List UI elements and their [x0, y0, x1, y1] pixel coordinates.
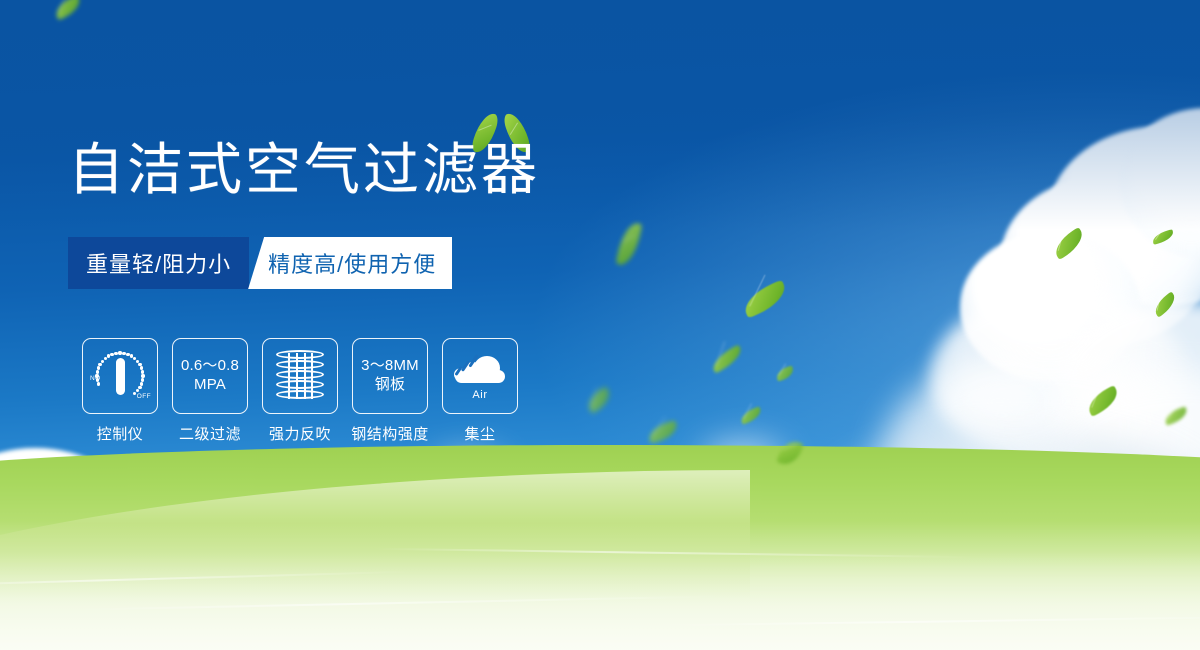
gauge-tick	[136, 389, 139, 392]
gauge-tick	[141, 378, 144, 381]
gauge-tick	[140, 366, 143, 369]
feature-item-controller[interactable]: NO OFF 控制仪	[82, 338, 158, 444]
feature-item-dust[interactable]: Air 集尘	[442, 338, 518, 444]
gauge-tick	[97, 382, 100, 385]
subtitle-right: 精度高/使用方便	[248, 237, 452, 289]
air-label: Air	[472, 389, 487, 401]
feature-icon-box	[262, 338, 338, 414]
gauge-tick	[110, 353, 113, 356]
air-cloud-icon	[452, 354, 508, 388]
product-banner: 自洁式空气过滤器 重量轻/阻力小 精度高/使用方便 NO OFF 控制仪 0.6…	[0, 0, 1200, 650]
filter-coil-icon	[276, 350, 324, 402]
feature-label: 集尘	[464, 423, 495, 444]
gauge-tick	[141, 374, 144, 377]
pressure-value: 0.6～0.8	[181, 357, 239, 376]
grass-field	[0, 445, 1200, 650]
gauge-tick	[114, 352, 117, 355]
gauge-tick	[96, 378, 99, 381]
feature-label: 强力反吹	[269, 423, 331, 444]
switch-bar-icon	[116, 358, 125, 395]
gauge-tick	[118, 351, 121, 354]
gauge-off-label: OFF	[137, 393, 151, 400]
gauge-tick	[141, 370, 144, 373]
page-title: 自洁式空气过滤器	[68, 142, 540, 198]
steel-thickness: 3～8MM	[361, 357, 419, 376]
gauge-tick	[122, 352, 125, 355]
gauge-switch-icon: NO OFF	[91, 347, 149, 405]
subtitle-bar: 重量轻/阻力小 精度高/使用方便	[68, 237, 452, 289]
gauge-tick	[97, 366, 100, 369]
feature-label: 控制仪	[97, 423, 144, 444]
gauge-tick	[98, 363, 101, 366]
feature-icon-box: 3～8MM 钢板	[352, 338, 428, 414]
grass-path	[0, 520, 1200, 650]
feature-label: 二级过滤	[179, 423, 241, 444]
gauge-tick	[96, 370, 99, 373]
feature-icon-box: NO OFF	[82, 338, 158, 414]
feature-item-blowback[interactable]: 强力反吹	[262, 338, 338, 444]
feature-icon-box: 0.6～0.8 MPA	[172, 338, 248, 414]
steel-material: 钢板	[375, 376, 405, 395]
gauge-tick	[101, 360, 104, 363]
feature-list: NO OFF 控制仪 0.6～0.8 MPA 二级过滤	[82, 338, 518, 444]
feature-item-steel[interactable]: 3～8MM 钢板 钢结构强度	[352, 338, 428, 444]
feature-item-filtration[interactable]: 0.6～0.8 MPA 二级过滤	[172, 338, 248, 444]
feature-icon-box: Air	[442, 338, 518, 414]
subtitle-left: 重量轻/阻力小	[68, 237, 249, 289]
gauge-tick	[95, 374, 98, 377]
pressure-unit: MPA	[194, 376, 226, 395]
feature-label: 钢结构强度	[351, 423, 429, 444]
